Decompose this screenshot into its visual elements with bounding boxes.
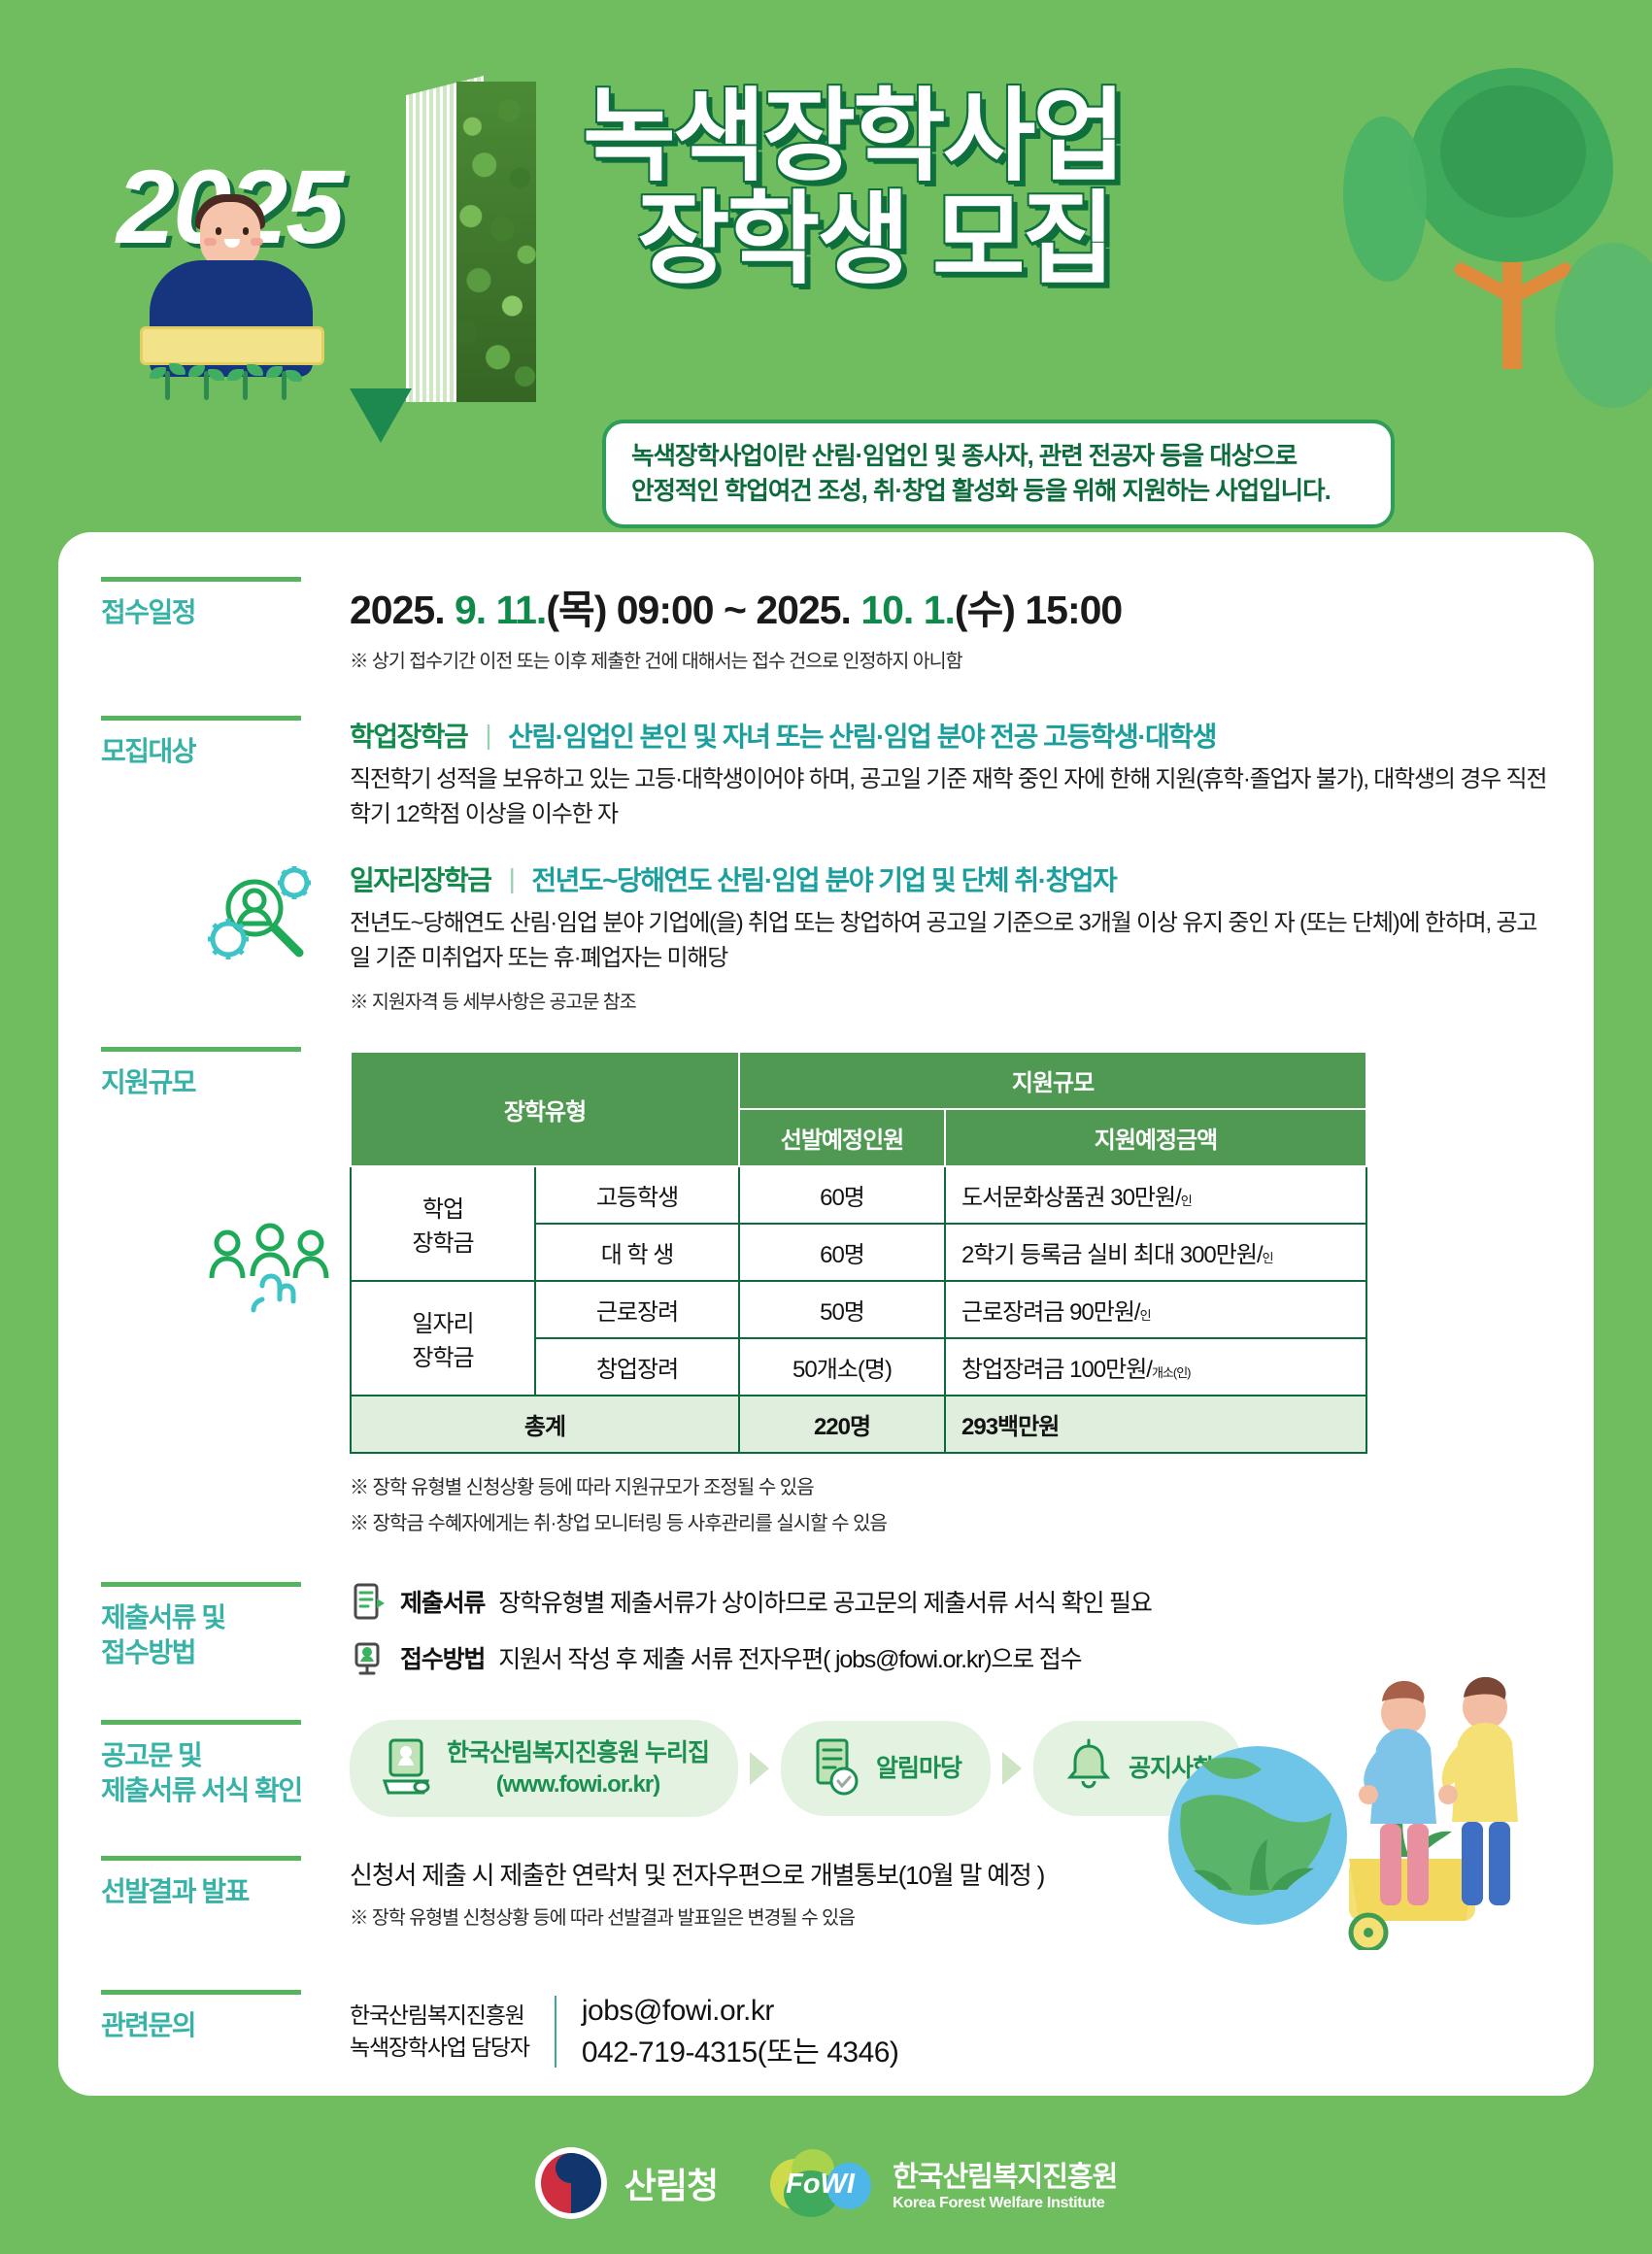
- total-label: 총계: [351, 1396, 739, 1453]
- leaf-icon: [227, 369, 244, 381]
- notice-label: 공고문 및 제출서류 서식 확인: [101, 1738, 350, 1809]
- contact-values: jobs@fowi.or.kr 042-719-4315(또는 4346): [582, 1990, 899, 2074]
- forest-photo: [456, 82, 536, 402]
- divider: |: [485, 720, 490, 751]
- row2-amount-text: 근로장려금 90만원/: [961, 1299, 1140, 1326]
- doc-label-2: 접수방법: [400, 1640, 485, 1675]
- scale-note-1: ※ 장학 유형별 신청상황 등에 따라 지원규모가 조정될 수 있음: [350, 1471, 1549, 1499]
- row1-amount: 2학기 등록금 실비 최대 300만원/인: [945, 1224, 1366, 1281]
- total-amount: 293백만원: [945, 1396, 1366, 1453]
- job-head: 일자리장학금 | 전년도~당해연도 산림·임업 분야 기업 및 단체 취·창업자: [350, 859, 1549, 898]
- korea-forest-service-logo: 산림청: [535, 2147, 718, 2219]
- eye-left-icon: [216, 227, 221, 235]
- schedule-label: 접수일정: [101, 595, 350, 630]
- table-row: 일자리 장학금 근로장려 50명 근로장려금 90만원/인: [351, 1281, 1366, 1338]
- group-job: 일자리 장학금: [351, 1281, 535, 1396]
- target-item-job: 일자리장학금 | 전년도~당해연도 산림·임업 분야 기업 및 단체 취·창업자…: [350, 859, 1549, 976]
- table-total-row: 총계 220명 293백만원: [351, 1396, 1366, 1453]
- col-scholarship-type: 장학유형: [351, 1052, 739, 1166]
- row0-type: 고등학생: [535, 1166, 739, 1224]
- application-period: 2025. 9. 11.(목) 09:00 ~ 2025. 10. 1.(수) …: [350, 577, 1549, 635]
- contact-label-col: 관련문의: [58, 1990, 350, 2074]
- description-line-2: 안정적인 학업여건 조성, 취·창업 활성화 등을 위해 지원하는 사업입니다.: [631, 474, 1365, 509]
- section-target: 모집대상 학업장학금 | 산림·임업인 본인 및: [58, 673, 1594, 1014]
- row0-amount: 도서문화상품권 30만원/인: [945, 1166, 1366, 1224]
- row2-type: 근로장려: [535, 1281, 739, 1338]
- poster-title: 녹색장학사업 장학생 모집: [583, 85, 1418, 291]
- row2-count: 50명: [739, 1281, 945, 1338]
- date-middle: (목) 09:00 ~ 2025.: [546, 588, 860, 632]
- result-label-col: 선발결과 발표: [58, 1856, 350, 1930]
- section-rule: [101, 1047, 301, 1052]
- row0-amount-text: 도서문화상품권 30만원/: [961, 1185, 1181, 1211]
- section-rule: [101, 1990, 301, 1995]
- notice-label-col: 공고문 및 제출서류 서식 확인: [58, 1720, 350, 1817]
- cheek-left-icon: [204, 238, 217, 246]
- scale-label: 지원규모: [101, 1065, 350, 1100]
- date-prefix: 2025.: [350, 588, 455, 632]
- col-planned-amount: 지원예정금액: [945, 1109, 1366, 1166]
- date-start: 9. 11.: [455, 588, 546, 632]
- target-item-academic: 학업장학금 | 산림·임업인 본인 및 자녀 또는 산림·임업 분야 전공 고등…: [350, 716, 1549, 832]
- mailbox-icon: [350, 1638, 387, 1677]
- flow-step-board[interactable]: 알림마당: [781, 1721, 991, 1816]
- poster-header: 2025 녹색장학사업 장학생 모집 녹색장학: [0, 0, 1652, 583]
- job-body: 전년도~당해연도 산림·임업 분야 기업에(을) 취업 또는 창업하여 공고일 …: [350, 906, 1549, 976]
- schedule-label-col: 접수일정: [58, 577, 350, 673]
- job-subtitle: 전년도~당해연도 산림·임업 분야 기업 및 단체 취·창업자: [531, 859, 1116, 898]
- contact-phone[interactable]: 042-719-4315(또는 4346): [582, 2036, 899, 2069]
- chevron-right-icon: [750, 1752, 769, 1785]
- academic-subtitle: 산림·임업인 본인 및 자녀 또는 산림·임업 분야 전공 고등학생·대학생: [508, 716, 1216, 755]
- row2-amount: 근로장려금 90만원/인: [945, 1281, 1366, 1338]
- fowi-name: 한국산림복지진흥원 Korea Forest Welfare Institute: [893, 2154, 1117, 2212]
- row1-type: 대 학 생: [535, 1224, 739, 1281]
- flow-step-1-url: (www.fowi.or.kr): [447, 1769, 709, 1800]
- section-rule: [101, 577, 301, 582]
- doc-text-2: 지원서 작성 후 제출 서류 전자우편( jobs@fowi.or.kr)으로 …: [498, 1640, 1081, 1675]
- doc-line-submission: 제출서류 장학유형별 제출서류가 상이하므로 공고문의 제출서류 서식 확인 필…: [350, 1582, 1549, 1621]
- group-academic-l2: 장학금: [412, 1230, 473, 1257]
- main-content-card: 접수일정 2025. 9. 11.(목) 09:00 ~ 2025. 10. 1…: [58, 532, 1594, 2096]
- section-rule: [101, 1720, 301, 1725]
- chevron-right-icon: [1002, 1752, 1022, 1785]
- row3-amount: 창업장려금 100만원/개소(인): [945, 1338, 1366, 1396]
- contact-block: 한국산림복지진흥원 녹색장학사업 담당자 jobs@fowi.or.kr 042…: [350, 1990, 1549, 2074]
- flow-step-board-text: 알림마당: [876, 1753, 961, 1785]
- taegeuk-icon: [535, 2147, 607, 2219]
- scale-note-2: ※ 장학금 수혜자에게는 취·창업 모니터링 등 사후관리를 실시할 수 있음: [350, 1507, 1549, 1535]
- schedule-note: ※ 상기 접수기간 이전 또는 이후 제출한 건에 대해서는 접수 건으로 인정…: [350, 645, 1549, 673]
- document-icon: [350, 1582, 387, 1621]
- notice-label-l1: 공고문 및: [101, 1740, 201, 1770]
- row1-amount-unit: 인: [1263, 1251, 1273, 1265]
- scale-content: 장학유형 지원규모 선발예정인원 지원예정금액 학업 장학금 고등학생: [350, 1047, 1594, 1543]
- laptop-icon: [379, 1738, 433, 1799]
- target-label: 모집대상: [101, 734, 350, 769]
- docs-label: 제출서류 및 접수방법: [101, 1600, 350, 1671]
- section-rule: [101, 1582, 301, 1587]
- row0-count: 60명: [739, 1166, 945, 1224]
- target-content: 학업장학금 | 산림·임업인 본인 및 자녀 또는 산림·임업 분야 전공 고등…: [350, 716, 1594, 1014]
- program-description-box: 녹색장학사업이란 산림·임업인 및 종사자, 관련 전공자 등을 대상으로 안정…: [602, 420, 1395, 528]
- target-footnote: ※ 지원자격 등 세부사항은 공고문 참조: [350, 986, 1549, 1014]
- bell-icon: [1062, 1738, 1115, 1799]
- target-label-col: 모집대상: [58, 716, 350, 1014]
- table-header-row: 장학유형 지원규모: [351, 1052, 1366, 1109]
- contact-divider: [555, 1996, 556, 2068]
- docs-label-l2: 접수방법: [101, 1637, 195, 1667]
- seedling-tray-icon: [140, 326, 324, 365]
- col-planned-count: 선발예정인원: [739, 1109, 945, 1166]
- row3-type: 창업장려: [535, 1338, 739, 1396]
- row3-count: 50개소(명): [739, 1338, 945, 1396]
- sprout-icon: [243, 371, 248, 400]
- head-icon: [200, 202, 260, 268]
- flow-step-website[interactable]: 한국산림복지진흥원 누리집 (www.fowi.or.kr): [350, 1720, 738, 1817]
- title-line-1: 녹색장학사업: [583, 85, 1418, 188]
- docs-label-l1: 제출서류 및: [101, 1602, 225, 1632]
- date-suffix: (수) 15:00: [955, 588, 1122, 632]
- globe-people-illustration: [1143, 1659, 1570, 1950]
- row1-count: 60명: [739, 1224, 945, 1281]
- section-scale: 지원규모 장학유형 지원규모: [58, 1014, 1594, 1543]
- flow-step-2-label: 알림마당: [876, 1755, 961, 1782]
- contact-content: 한국산림복지진흥원 녹색장학사업 담당자 jobs@fowi.or.kr 042…: [350, 1990, 1594, 2074]
- doc-label-1: 제출서류: [400, 1584, 485, 1619]
- title-line-2: 장학생 모집: [583, 188, 1418, 291]
- section-rule: [101, 1856, 301, 1861]
- tree-large-illustration: [1409, 68, 1613, 262]
- poster-footer: 산림청 FoWI 한국산림복지진흥원 Korea Forest Welfare …: [0, 2147, 1652, 2219]
- support-scale-table: 장학유형 지원규모 선발예정인원 지원예정금액 학업 장학금 고등학생: [350, 1051, 1367, 1454]
- fowi-name-kr: 한국산림복지진흥원: [893, 2154, 1117, 2195]
- contact-label: 관련문의: [101, 2008, 350, 2043]
- row2-amount-unit: 인: [1140, 1308, 1151, 1323]
- three-people-icon: [204, 1222, 336, 1315]
- gov-name: 산림청: [624, 2158, 718, 2208]
- section-rule: [101, 716, 301, 721]
- flow-step-website-text: 한국산림복지진흥원 누리집 (www.fowi.or.kr): [447, 1737, 709, 1800]
- person-with-seedlings-illustration: [115, 270, 367, 435]
- section-contact: 관련문의 한국산림복지진흥원 녹색장학사업 담당자 jobs@fowi.or.k…: [58, 1930, 1594, 2074]
- person-search-gear-icon: [204, 861, 328, 976]
- total-count: 220명: [739, 1396, 945, 1453]
- tree-crown-shade: [1440, 85, 1586, 218]
- docs-label-col: 제출서류 및 접수방법: [58, 1582, 350, 1695]
- row0-amount-unit: 인: [1181, 1194, 1192, 1208]
- job-title: 일자리장학금: [350, 859, 491, 898]
- contact-org-l1: 한국산림복지진흥원: [350, 2002, 524, 2028]
- row1-amount-text: 2학기 등록금 실비 최대 300만원/: [961, 1242, 1263, 1268]
- contact-org-l2: 녹색장학사업 담당자: [350, 2035, 529, 2060]
- group-job-l1: 일자리: [412, 1311, 473, 1337]
- scale-label-col: 지원규모: [58, 1047, 350, 1543]
- fowi-wordmark: FoWI: [786, 2169, 855, 2201]
- arrow-down-icon: [350, 388, 412, 443]
- academic-title: 학업장학금: [350, 716, 467, 755]
- table-row: 학업 장학금 고등학생 60명 도서문화상품권 30만원/인: [351, 1166, 1366, 1224]
- col-group-support-scale: 지원규모: [739, 1052, 1366, 1109]
- sprout-icon: [165, 371, 170, 400]
- scale-notes: ※ 장학 유형별 신청상황 등에 따라 지원규모가 조정될 수 있음 ※ 장학금…: [350, 1471, 1549, 1535]
- doc-text-1: 장학유형별 제출서류가 상이하므로 공고문의 제출서류 서식 확인 필요: [498, 1584, 1151, 1619]
- schedule-content: 2025. 9. 11.(목) 09:00 ~ 2025. 10. 1.(수) …: [350, 577, 1594, 673]
- cheek-right-icon: [251, 238, 263, 246]
- section-schedule: 접수일정 2025. 9. 11.(목) 09:00 ~ 2025. 10. 1…: [58, 532, 1594, 673]
- fowi-logo: FoWI 한국산림복지진흥원 Korea Forest Welfare Inst…: [770, 2149, 1117, 2217]
- group-academic-l1: 학업: [422, 1196, 463, 1223]
- date-end: 10. 1.: [860, 588, 955, 632]
- flow-step-1-label: 한국산림복지진흥원 누리집: [447, 1739, 709, 1766]
- row3-amount-unit: 개소(인): [1152, 1365, 1191, 1380]
- result-label: 선발결과 발표: [101, 1874, 350, 1909]
- notice-label-l2: 제출서류 서식 확인: [101, 1775, 302, 1805]
- group-job-l2: 장학금: [412, 1345, 473, 1371]
- divider: |: [509, 863, 515, 894]
- row3-amount-text: 창업장려금 100만원/: [961, 1357, 1152, 1383]
- leaf-icon: [150, 367, 166, 379]
- fowi-name-en: Korea Forest Welfare Institute: [893, 2195, 1117, 2212]
- fowi-blob-icon: FoWI: [770, 2149, 877, 2217]
- contact-org: 한국산림복지진흥원 녹색장학사업 담당자: [350, 2000, 529, 2065]
- academic-body: 직전학기 성적을 보유하고 있는 고등·대학생이어야 하며, 공고일 기준 재학…: [350, 762, 1549, 832]
- checklist-icon: [810, 1738, 862, 1799]
- contact-email[interactable]: jobs@fowi.or.kr: [582, 1995, 774, 2027]
- academic-head: 학업장학금 | 산림·임업인 본인 및 자녀 또는 산림·임업 분야 전공 고등…: [350, 716, 1549, 755]
- eye-right-icon: [243, 227, 249, 235]
- group-academic: 학업 장학금: [351, 1166, 535, 1281]
- description-line-1: 녹색장학사업이란 산림·임업인 및 종사자, 관련 전공자 등을 대상으로: [631, 439, 1365, 474]
